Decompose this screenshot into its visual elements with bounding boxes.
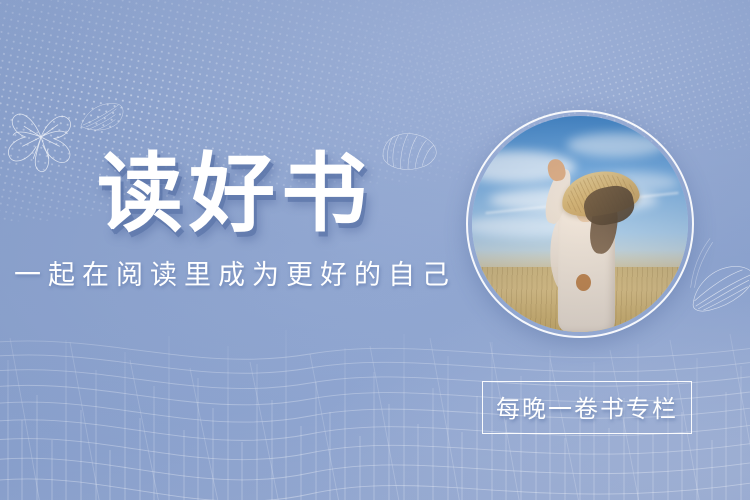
- reading-promo-banner: 读好书 一起在阅读里成为更好的自己 每晚一卷书专栏: [0, 0, 750, 500]
- petal-outline-left-icon: [78, 100, 126, 134]
- headline-block: 读好书 一起在阅读里成为更好的自己: [0, 150, 470, 292]
- photo-overlay: [472, 116, 688, 332]
- photo-woman-in-wheat-field: [472, 116, 688, 332]
- page-title: 读好书: [0, 150, 470, 239]
- avatar: [466, 110, 694, 338]
- column-badge[interactable]: 每晚一卷书专栏: [482, 381, 692, 434]
- page-subtitle: 一起在阅读里成为更好的自己: [0, 253, 470, 292]
